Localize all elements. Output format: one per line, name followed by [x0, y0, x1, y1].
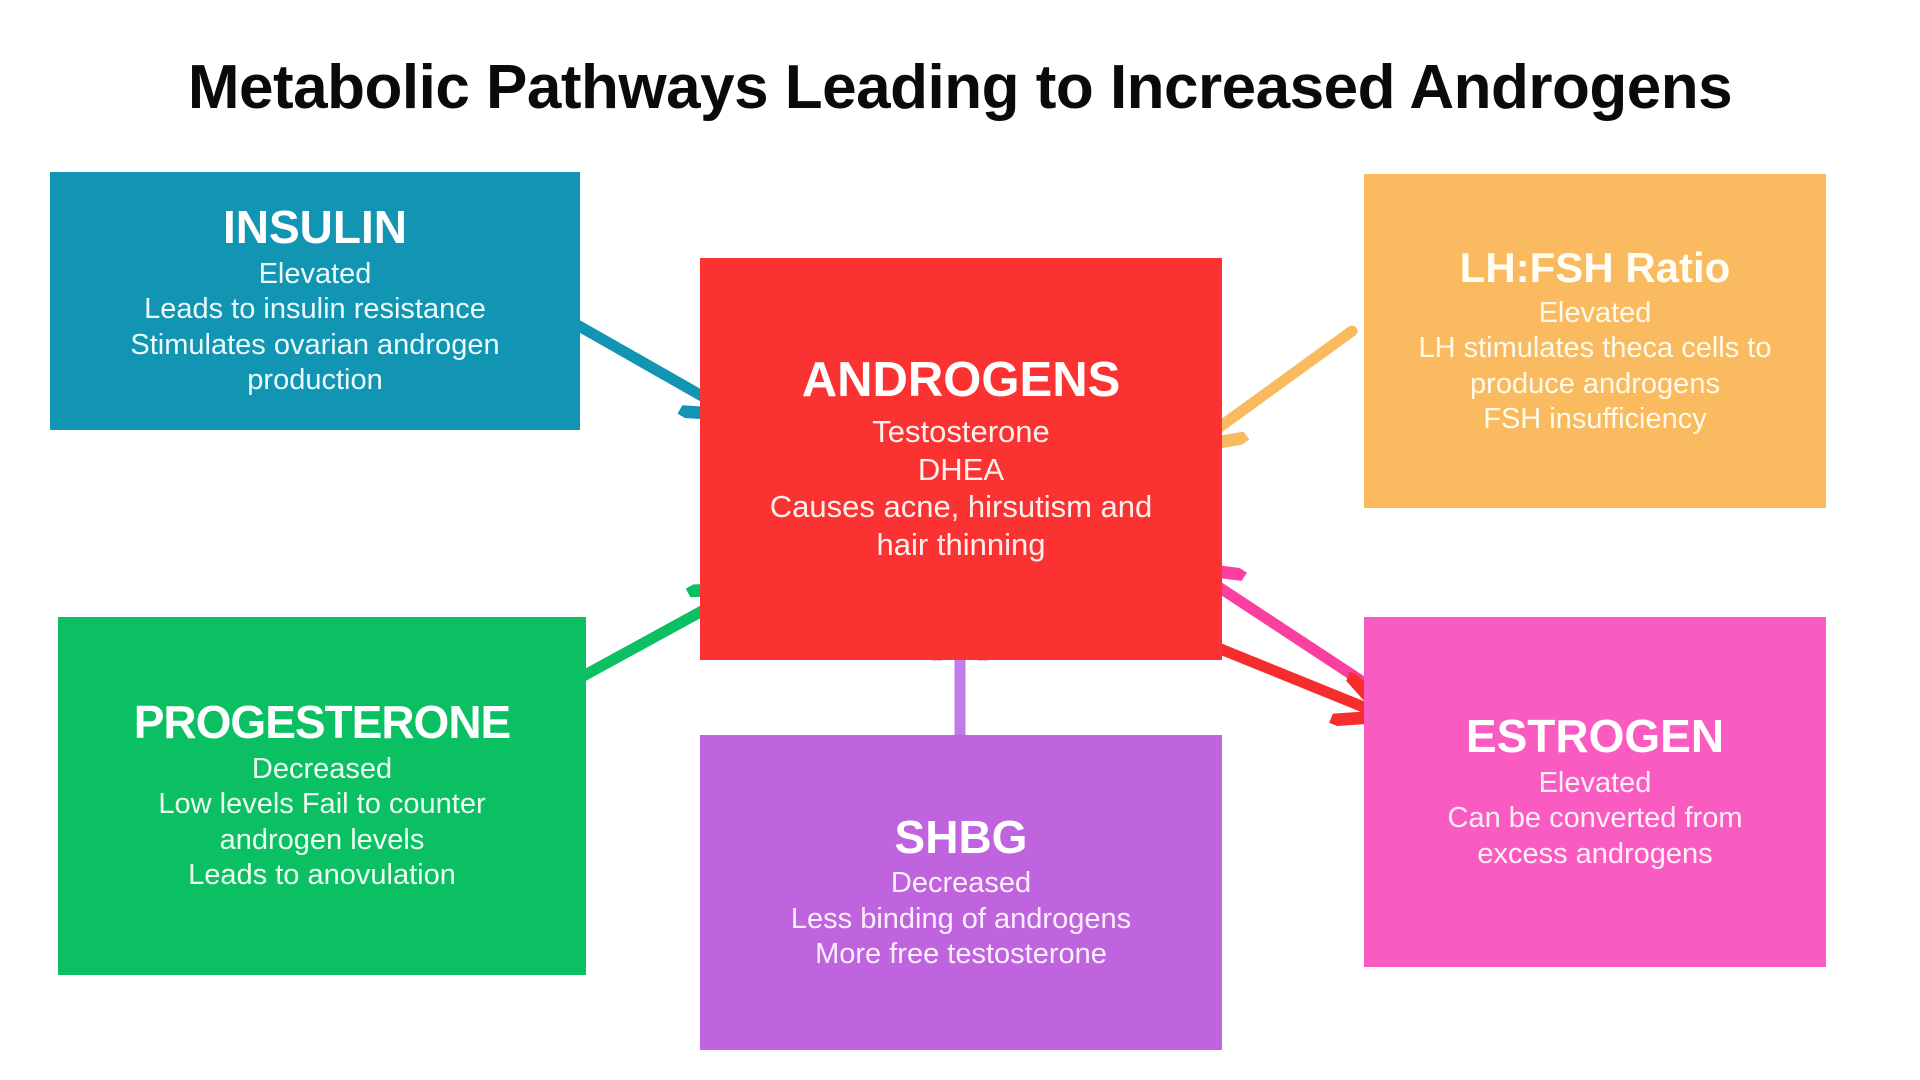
node-insulin-line-1: Elevated [259, 257, 372, 292]
node-shbg-line-3: More free testosterone [815, 937, 1107, 972]
edge-insulin-to-androgens [572, 322, 716, 404]
node-progesterone-line-2: Low levels Fail to counter [158, 787, 485, 822]
node-lhfsh-ratio[interactable]: LH:FSH Ratio Elevated LH stimulates thec… [1364, 174, 1826, 508]
node-estrogen-line-3: excess androgens [1477, 837, 1712, 872]
node-estrogen-title: ESTROGEN [1466, 712, 1724, 762]
node-progesterone-line-4: Leads to anovulation [188, 858, 456, 893]
node-androgens-line-4: hair thinning [877, 526, 1046, 564]
node-androgens-line-3: Causes acne, hirsutism and [770, 488, 1153, 526]
node-shbg-title: SHBG [895, 813, 1028, 863]
node-lhfsh-ratio-line-2: LH stimulates theca cells to [1419, 331, 1772, 366]
node-progesterone-line-1: Decreased [252, 752, 392, 787]
node-androgens[interactable]: ANDROGENS Testosterone DHEA Causes acne,… [700, 258, 1222, 660]
node-lhfsh-ratio-line-1: Elevated [1539, 296, 1652, 331]
node-androgens-line-1: Testosterone [872, 413, 1050, 451]
edge-androgens-to-estrogen [1218, 648, 1366, 708]
node-insulin-line-4: production [247, 363, 382, 398]
node-androgens-line-2: DHEA [918, 451, 1004, 489]
node-estrogen[interactable]: ESTROGEN Elevated Can be converted from … [1364, 617, 1826, 967]
node-insulin-line-3: Stimulates ovarian androgen [130, 328, 499, 363]
node-progesterone-title: PROGESTERONE [134, 698, 511, 748]
diagram-canvas: Metabolic Pathways Leading to Increased … [0, 0, 1920, 1080]
edge-lhfsh-to-androgens [1210, 331, 1352, 434]
node-insulin[interactable]: INSULIN Elevated Leads to insulin resist… [50, 172, 580, 430]
node-insulin-line-2: Leads to insulin resistance [144, 292, 486, 327]
node-androgens-title: ANDROGENS [802, 354, 1121, 407]
edge-estrogen-to-androgens [1208, 580, 1360, 680]
node-lhfsh-ratio-line-4: FSH insufficiency [1483, 402, 1707, 437]
node-shbg-line-2: Less binding of androgens [791, 902, 1131, 937]
node-lhfsh-ratio-line-3: produce androgens [1470, 367, 1720, 402]
node-progesterone-line-3: androgen levels [220, 823, 425, 858]
node-estrogen-line-2: Can be converted from [1448, 801, 1743, 836]
node-insulin-title: INSULIN [223, 203, 407, 253]
node-shbg[interactable]: SHBG Decreased Less binding of androgens… [700, 735, 1222, 1050]
node-shbg-line-1: Decreased [891, 866, 1031, 901]
node-estrogen-line-1: Elevated [1539, 766, 1652, 801]
page-title: Metabolic Pathways Leading to Increased … [0, 52, 1920, 123]
node-lhfsh-ratio-title: LH:FSH Ratio [1460, 245, 1731, 290]
node-progesterone[interactable]: PROGESTERONE Decreased Low levels Fail t… [58, 617, 586, 975]
